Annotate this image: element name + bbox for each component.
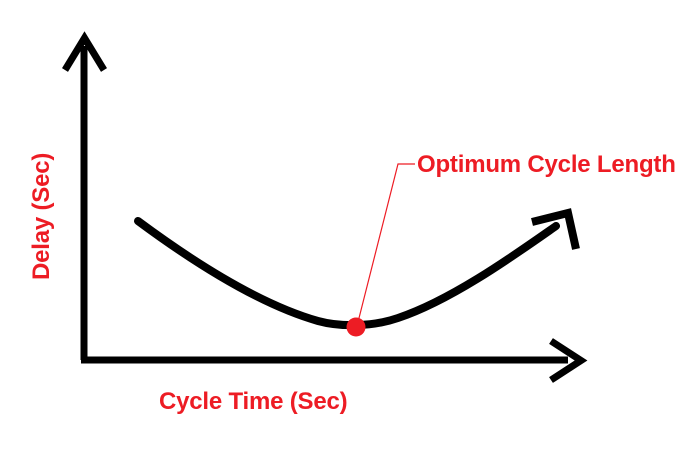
delay-curve <box>138 221 556 325</box>
optimum-point-marker[interactable] <box>347 318 366 337</box>
y-axis-label: Delay (Sec) <box>30 153 54 280</box>
optimum-cycle-length-annotation: Optimum Cycle Length <box>417 153 676 177</box>
x-axis-label: Cycle Time (Sec) <box>159 390 347 414</box>
chart-figure: Delay (Sec) Cycle Time (Sec) Optimum Cyc… <box>0 0 693 458</box>
annotation-leader-line <box>357 164 415 326</box>
